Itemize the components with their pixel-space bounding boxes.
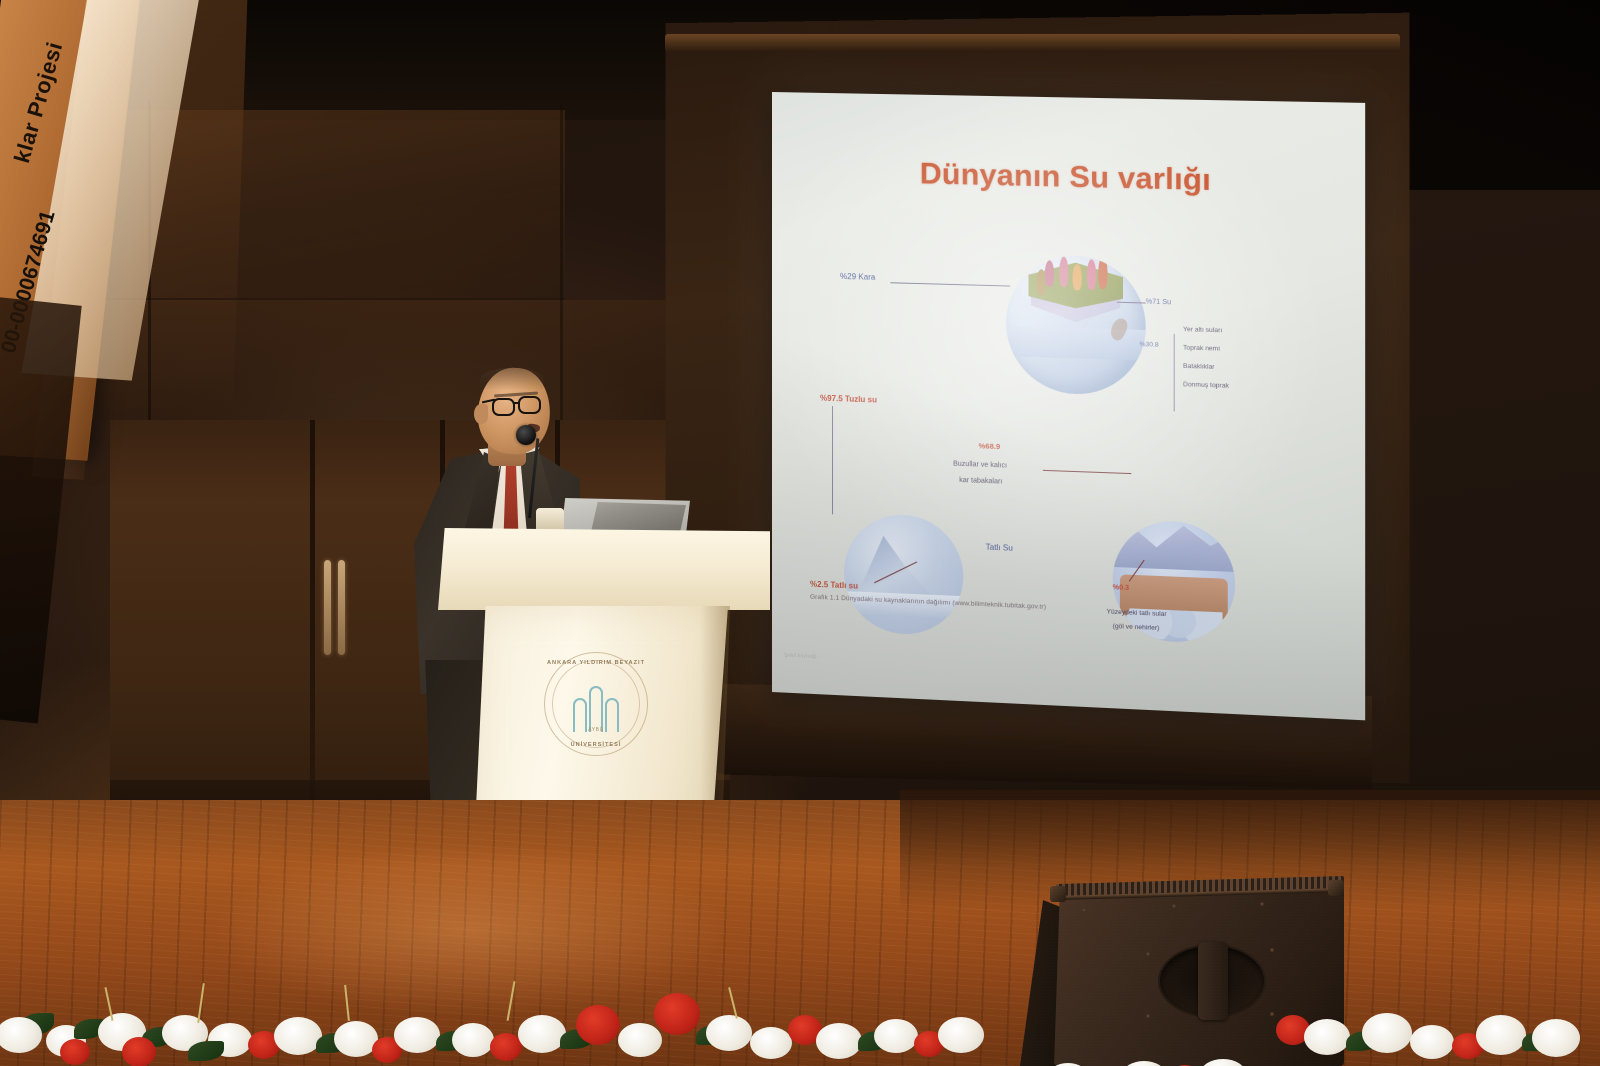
label-land: %29 Kara [840,272,875,283]
speaker-ear [474,404,488,424]
label-water: %71 Su [1146,298,1171,308]
label-glaciers-line1: Buzullar ve kalıcı [953,461,1007,472]
door-handle [338,560,345,655]
label-salt-water: %97.5 Tuzlu su [820,394,877,406]
label-glaciers-line2: kar tabakaları [959,477,1002,487]
glasses-lens-left-icon [492,398,515,416]
label-groundwater-item-2: Bataklıklar [1183,363,1215,372]
presentation-slide: Dünyanın Su varlığı %29 Kara [772,92,1365,720]
wall-seam [560,105,563,425]
screen-roller [665,34,1400,52]
label-glaciers-pct: %68.9 [979,441,1001,451]
label-groundwater-pct: %30.8 [1140,341,1159,350]
crest-text-top: ANKARA YILDIRIM BEYAZIT [545,660,647,666]
label-fresh-water-pct: %2.5 Tatlı su [810,580,858,592]
leader-line-glaciers [1043,470,1131,474]
door-handle [324,560,331,655]
glacier-photo-inset [844,513,963,637]
leader-line-groundwater [1174,334,1175,412]
label-groundwater-item-0: Yer altı suları [1183,326,1222,335]
label-surface-line2: (göl ve nehirler) [1113,623,1160,633]
microphone-head-icon [516,425,536,445]
leader-line-land [890,282,1010,286]
label-surface-pct: %0.3 [1113,584,1129,594]
label-freshwater-heading: Tatlı Su [986,543,1013,554]
leader-line-salt [832,406,833,514]
presentation-photo: Dünyanın Su varlığı %29 Kara [0,0,1600,1066]
speaker-hair [480,368,544,394]
label-groundwater-item-1: Toprak nemi [1183,344,1220,353]
flower-arrangement [0,975,1600,1066]
crest-arch-icon [572,676,620,732]
projection-screen: Dünyanın Su varlığı %29 Kara [772,92,1365,720]
water-distribution-diagram: %29 Kara %71 Su %30.8 Yer altı suları To… [772,92,1365,720]
crest-abbreviation: AYBÜ [545,727,647,733]
label-groundwater-item-3: Donmuş toprak [1183,381,1229,391]
glasses-lens-right-icon [518,396,541,414]
earth-cutaway-illustration [1006,254,1146,396]
podium-top-surface [438,528,770,610]
wall-panel-lower [95,300,695,420]
crest-text-bottom: ÜNİVERSİTESİ [545,742,647,748]
glasses-bridge [514,402,520,404]
university-crest: ANKARA YILDIRIM BEYAZIT AYBÜ ÜNİVERSİTES… [544,652,648,756]
